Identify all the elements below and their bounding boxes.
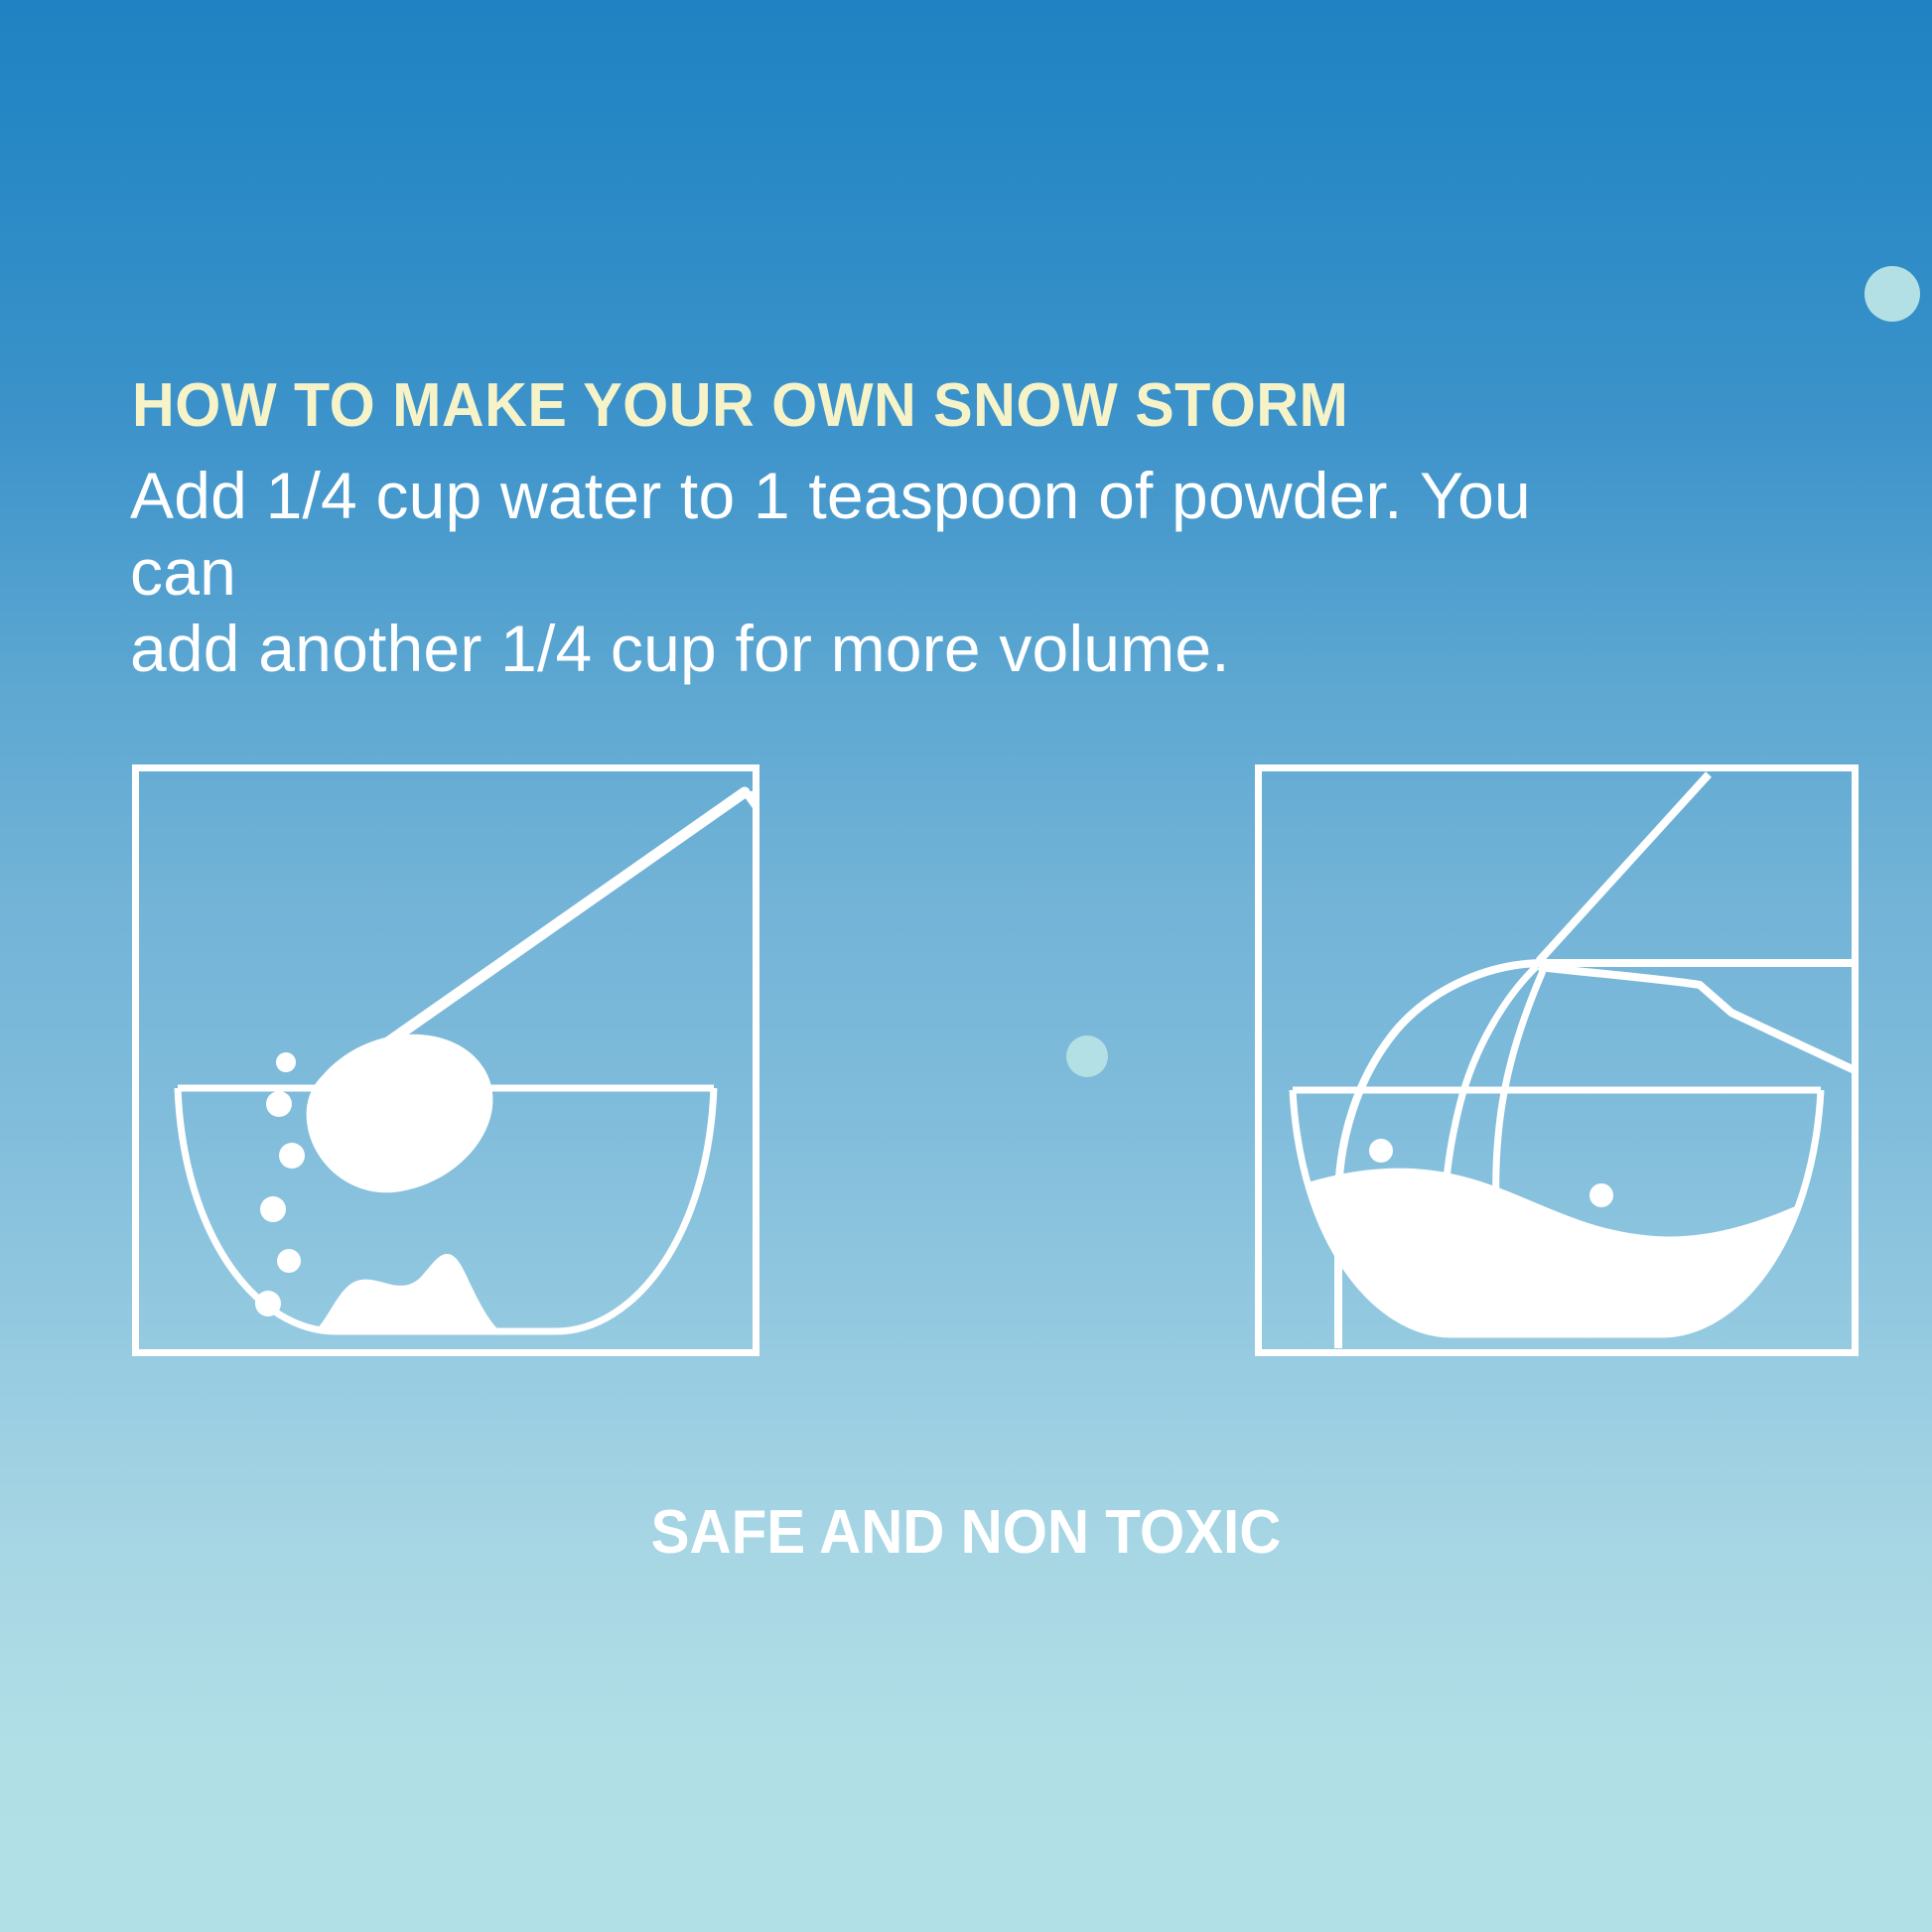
spoon-icon [307, 789, 759, 1192]
instructions-line-1: Add 1/4 cup water to 1 teaspoon of powde… [130, 458, 1599, 611]
instructions-text: Add 1/4 cup water to 1 teaspoon of powde… [130, 458, 1599, 688]
page-title: HOW TO MAKE YOUR OWN SNOW STORM [132, 375, 1348, 437]
bubble-top-right-icon [1864, 266, 1920, 322]
step-2-illustration-pitcher-pouring-water [1255, 764, 1859, 1356]
instructions-line-2: add another 1/4 cup for more volume. [130, 611, 1599, 687]
safety-claim: SAFE AND NON TOXIC [58, 1497, 1873, 1568]
step-1-illustration-spoon-pouring-powder [132, 764, 759, 1356]
powder-mound-icon [314, 1254, 501, 1332]
bubble-center-icon [1066, 1035, 1108, 1077]
powder-grains-icon [255, 1052, 305, 1316]
snow-fill-icon [1275, 1169, 1841, 1360]
snow-storm-instruction-poster: HOW TO MAKE YOUR OWN SNOW STORM Add 1/4 … [0, 0, 1932, 1932]
